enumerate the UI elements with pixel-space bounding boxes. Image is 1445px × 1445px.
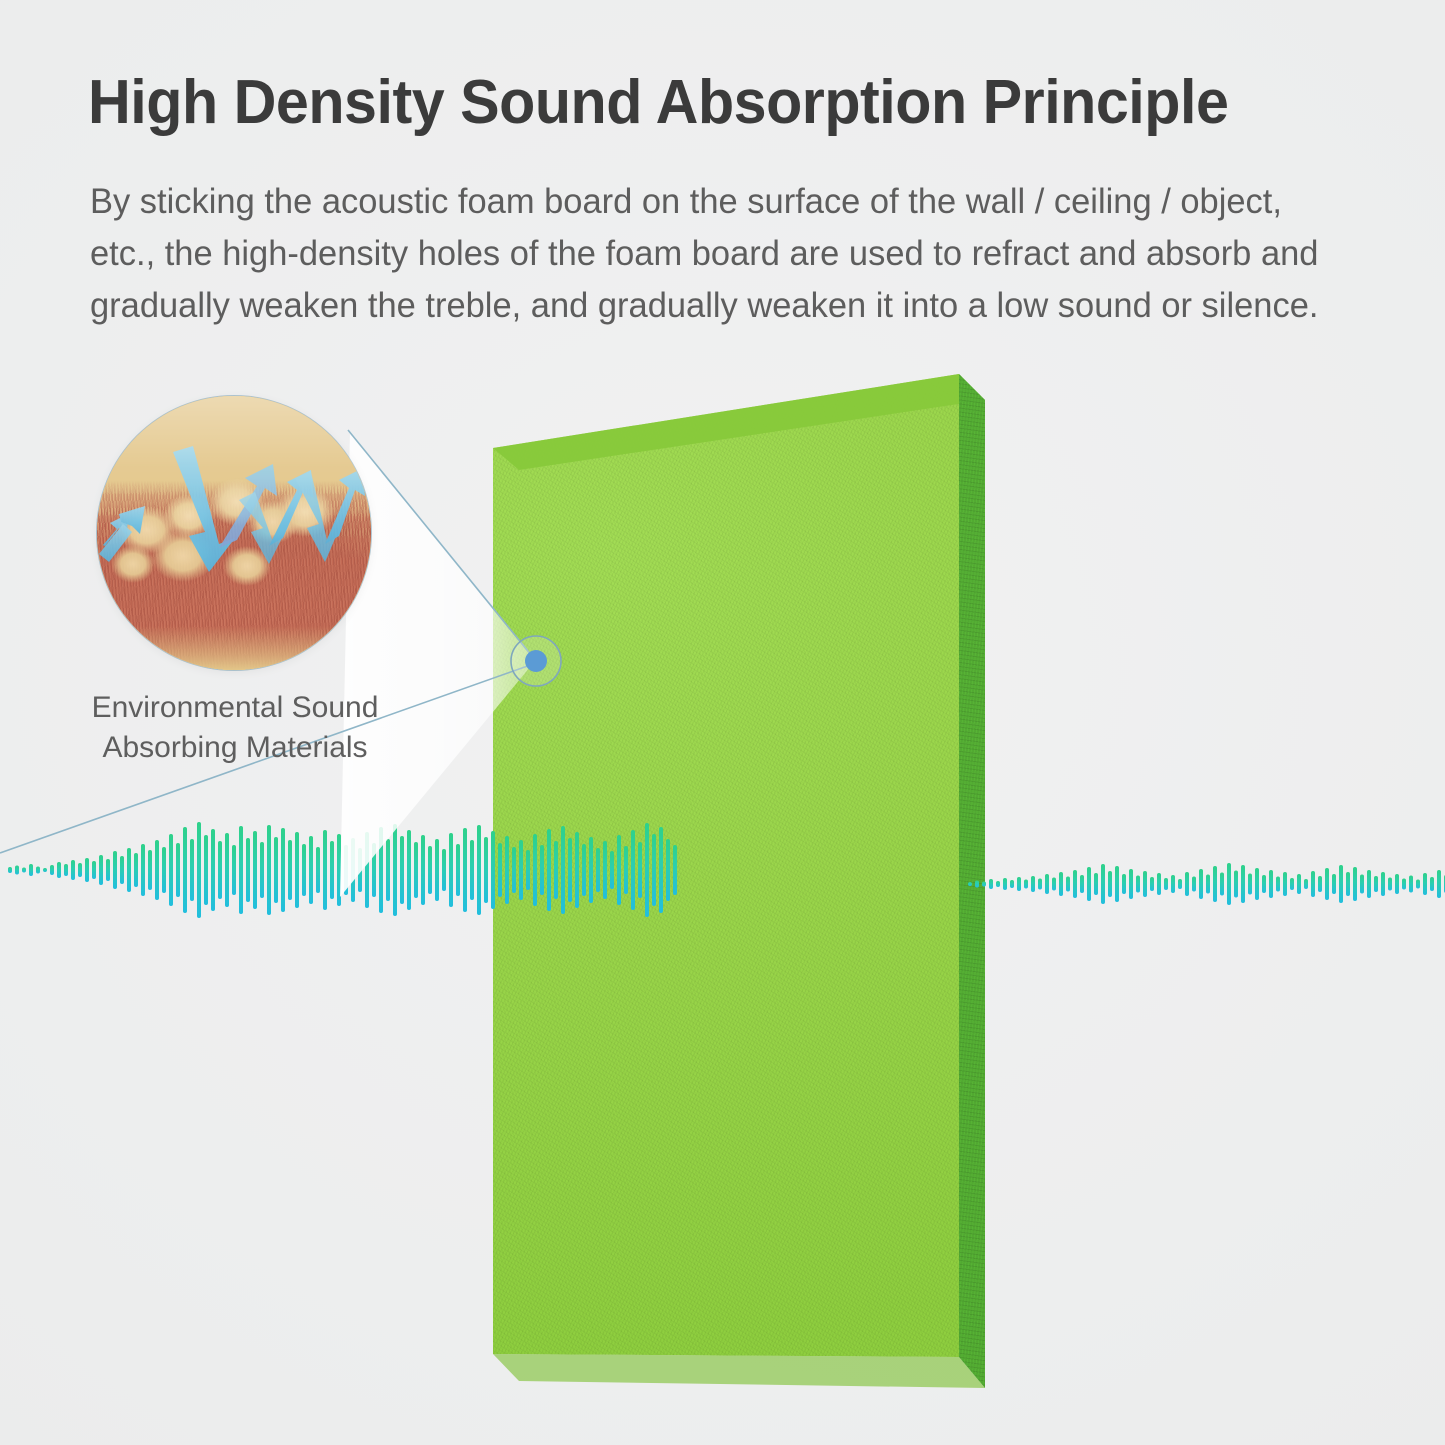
- waveform-bar: [43, 868, 47, 872]
- waveform-bar: [477, 825, 481, 915]
- waveform-bar: [92, 861, 96, 879]
- waveform-bar: [190, 839, 194, 901]
- waveform-bar: [260, 842, 264, 898]
- waveform-bar: [596, 848, 600, 892]
- waveform-bar: [85, 858, 89, 882]
- waveform-bar: [1192, 877, 1196, 892]
- attenuated-waveform: [968, 838, 1445, 930]
- waveform-bar: [134, 853, 138, 887]
- waveform-bar: [1262, 875, 1266, 893]
- waveform-bar: [1143, 871, 1147, 897]
- waveform-bar: [1353, 867, 1357, 901]
- waveform-bar: [253, 831, 257, 909]
- waveform-bar: [197, 822, 201, 918]
- waveform-bar: [533, 834, 537, 906]
- waveform-bar: [281, 828, 285, 912]
- waveform-bar: [1227, 863, 1231, 905]
- waveform-bar: [1017, 877, 1021, 891]
- magnifier-caption: Environmental Sound Absorbing Materials: [60, 688, 410, 768]
- waveform-bar: [1164, 878, 1168, 890]
- waveform-bar: [309, 836, 313, 904]
- waveform-bar: [1325, 868, 1329, 900]
- waveform-bar: [295, 832, 299, 908]
- waveform-bar: [982, 882, 986, 887]
- waveform-bar: [218, 841, 222, 899]
- page-description: By sticking the acoustic foam board on t…: [90, 176, 1343, 332]
- waveform-bar: [1360, 875, 1364, 894]
- waveform-bar: [176, 843, 180, 897]
- waveform-bar: [582, 844, 586, 896]
- waveform-bar: [1073, 870, 1077, 898]
- waveform-bar: [120, 856, 124, 884]
- waveform-bar: [1430, 877, 1434, 891]
- waveform-bar: [1178, 879, 1182, 889]
- waveform-bar: [996, 881, 1000, 887]
- waveform-bar: [1423, 873, 1427, 895]
- waveform-bar: [1374, 876, 1378, 892]
- incoming-waveform: [8, 770, 708, 970]
- waveform-bar: [1094, 873, 1098, 895]
- infographic-page: High Density Sound Absorption Principle …: [0, 0, 1445, 1445]
- waveform-bar: [50, 865, 54, 875]
- waveform-bar: [624, 846, 628, 894]
- waveform-bar: [1346, 872, 1350, 896]
- waveform-bar: [1031, 876, 1035, 892]
- waveform-bar: [1129, 869, 1133, 899]
- waveform-bar: [1381, 872, 1385, 896]
- waveform-bar: [1437, 870, 1441, 898]
- hotspot-dot[interactable]: [525, 650, 547, 672]
- waveform-bar: [1318, 876, 1322, 892]
- waveform-bar: [344, 845, 348, 895]
- waveform-bar: [484, 837, 488, 903]
- waveform-bar: [372, 843, 376, 897]
- waveform-bar: [540, 845, 544, 895]
- waveform-bar: [638, 842, 642, 898]
- waveform-bar: [491, 831, 495, 909]
- waveform-bar: [99, 855, 103, 885]
- waveform-bar: [183, 827, 187, 913]
- waveform-bar: [239, 826, 243, 914]
- waveform-bar: [316, 847, 320, 893]
- waveform-bar: [162, 847, 166, 893]
- waveform-bar: [1248, 874, 1252, 895]
- callout-line-upper: [348, 430, 536, 661]
- waveform-bar: [141, 844, 145, 896]
- waveform-bar: [302, 844, 306, 896]
- waveform-bar: [512, 847, 516, 893]
- waveform-bar: [673, 845, 677, 895]
- waveform-bar: [337, 834, 341, 906]
- waveform-bar: [554, 841, 558, 899]
- waveform-bar: [1388, 878, 1392, 891]
- waveform-bar: [1234, 871, 1238, 898]
- waveform-bar: [330, 841, 334, 899]
- waveform-bar: [1332, 874, 1336, 894]
- waveform-bars: [8, 822, 677, 918]
- waveform-bar: [407, 830, 411, 910]
- magnified-material-lens: [97, 396, 371, 670]
- waveform-bar: [659, 827, 663, 913]
- waveform-bar: [568, 838, 572, 902]
- waveform-bar: [1199, 869, 1203, 899]
- waveform-bar: [57, 862, 61, 878]
- waveform-bar: [421, 835, 425, 905]
- waveform-bar: [36, 867, 40, 874]
- waveform-bar: [1255, 868, 1259, 900]
- waveform-bar: [1206, 875, 1210, 894]
- waveform-bar: [155, 840, 159, 900]
- waveform-bar: [1115, 866, 1119, 902]
- waveform-bar: [1045, 874, 1049, 894]
- waveform-bar: [575, 832, 579, 908]
- waveform-bar: [498, 843, 502, 897]
- waveform-bar: [1241, 865, 1245, 903]
- waveform-bar: [1276, 877, 1280, 892]
- waveform-bar: [148, 850, 152, 890]
- waveform-bar: [365, 832, 369, 908]
- waveform-bar: [1311, 871, 1315, 897]
- hotspot-ring: [511, 636, 561, 686]
- waveform-bar: [1066, 877, 1070, 892]
- waveform-bar: [323, 830, 327, 910]
- waveform-bar: [1395, 874, 1399, 894]
- magnifier-caption-line1: Environmental Sound: [60, 688, 410, 728]
- waveform-bar: [442, 849, 446, 891]
- waveform-bar: [526, 850, 530, 890]
- waveform-bar: [113, 851, 117, 889]
- waveform-bar: [1122, 874, 1126, 894]
- waveform-bar: [1087, 867, 1091, 901]
- waveform-bar: [64, 864, 68, 876]
- waveform-bar: [1150, 877, 1154, 891]
- waveform-bar: [274, 837, 278, 903]
- waveform-bar: [1409, 876, 1413, 893]
- waveform-bar: [204, 835, 208, 905]
- waveform-bar: [8, 867, 12, 873]
- waveform-bar: [351, 838, 355, 902]
- waveform-bar: [547, 829, 551, 911]
- waveform-bar: [456, 844, 460, 896]
- waveform-bar: [975, 881, 979, 888]
- waveform-bar: [78, 863, 82, 877]
- waveform-bar: [1136, 876, 1140, 893]
- waveform-bar: [1269, 870, 1273, 898]
- waveform-bar: [1157, 873, 1161, 895]
- waveform-bar: [1024, 880, 1028, 889]
- waveform-bar: [645, 823, 649, 917]
- waveform-bar: [1171, 875, 1175, 893]
- magnifier-caption-line2: Absorbing Materials: [60, 728, 410, 768]
- waveform-bar: [29, 864, 33, 876]
- waveform-bar: [1059, 872, 1063, 896]
- waveform-bar: [428, 846, 432, 894]
- waveform-bar: [449, 833, 453, 907]
- waveform-bar: [267, 825, 271, 915]
- waveform-bar: [22, 868, 26, 873]
- lens-gloss: [97, 396, 371, 670]
- waveform-bar: [358, 848, 362, 892]
- waveform-bar: [1416, 880, 1420, 889]
- page-title: High Density Sound Absorption Principle: [88, 68, 1330, 138]
- waveform-bar: [414, 842, 418, 898]
- waveform-bar: [589, 837, 593, 903]
- waveform-bar: [1290, 878, 1294, 890]
- waveform-bar: [1010, 880, 1014, 888]
- waveform-bar: [379, 827, 383, 913]
- waveform-bar: [71, 860, 75, 880]
- waveform-bars: [968, 863, 1445, 905]
- waveform-bar: [393, 824, 397, 916]
- waveform-bar: [127, 848, 131, 892]
- waveform-bar: [1402, 879, 1406, 890]
- waveform-bar: [1304, 879, 1308, 889]
- waveform-bar: [15, 866, 19, 875]
- waveform-bar: [246, 838, 250, 902]
- waveform-bar: [1003, 878, 1007, 890]
- waveform-bar: [1185, 872, 1189, 896]
- waveform-bar: [1339, 865, 1343, 903]
- waveform-bar: [519, 840, 523, 900]
- waveform-bar: [1101, 864, 1105, 904]
- waveform-bar: [1108, 871, 1112, 897]
- waveform-bar: [463, 828, 467, 912]
- waveform-bar: [666, 839, 670, 901]
- waveform-bar: [169, 834, 173, 906]
- waveform-bar: [1080, 875, 1084, 893]
- waveform-bar: [1297, 874, 1301, 894]
- waveform-bar: [232, 845, 236, 895]
- waveform-bar: [1052, 878, 1056, 891]
- waveform-bar: [1038, 879, 1042, 890]
- waveform-bar: [435, 839, 439, 901]
- waveform-bar: [989, 879, 993, 889]
- waveform-bar: [652, 834, 656, 906]
- waveform-bar: [106, 859, 110, 881]
- waveform-bar: [1367, 870, 1371, 898]
- waveform-bar: [561, 826, 565, 914]
- waveform-bar: [288, 840, 292, 900]
- waveform-bar: [505, 836, 509, 904]
- waveform-bar: [225, 833, 229, 907]
- waveform-bar: [617, 835, 621, 905]
- waveform-bar: [1220, 873, 1224, 896]
- waveform-bar: [603, 841, 607, 899]
- waveform-bar: [631, 830, 635, 910]
- waveform-bar: [470, 840, 474, 900]
- waveform-bar: [400, 836, 404, 904]
- waveform-bar: [1283, 872, 1287, 896]
- waveform-bar: [968, 882, 972, 886]
- waveform-bar: [386, 839, 390, 901]
- waveform-bar: [1213, 866, 1217, 902]
- waveform-bar: [610, 851, 614, 889]
- waveform-bar: [211, 829, 215, 911]
